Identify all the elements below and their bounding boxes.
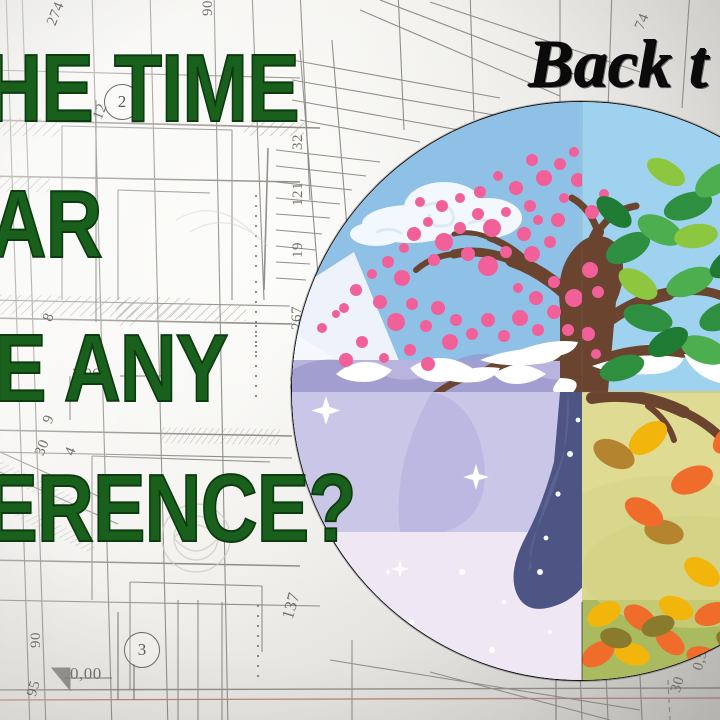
- season-quadrant-spring: [292, 102, 581, 391]
- headline-line-4: FERENCE?: [0, 464, 356, 554]
- dimension-label: 90: [200, 0, 217, 16]
- dimension-label: 90: [28, 632, 45, 648]
- overlay-title: Back t: [528, 24, 707, 103]
- four-seasons-illustration: [291, 101, 720, 681]
- detail-marker: 3: [124, 632, 160, 668]
- season-quadrant-summer: [581, 102, 720, 391]
- headline-line-1: THE TIME: [0, 44, 299, 134]
- headline-line-3: KE ANY: [0, 324, 228, 414]
- dimension-label: 0,00: [70, 664, 102, 684]
- thumbnail-canvas: 274 90 12 2 74 32 121 19 267 32 8 3,06 9…: [0, 0, 720, 720]
- headline-line-2: EAR: [0, 180, 102, 270]
- season-quadrant-autumn: [581, 391, 720, 680]
